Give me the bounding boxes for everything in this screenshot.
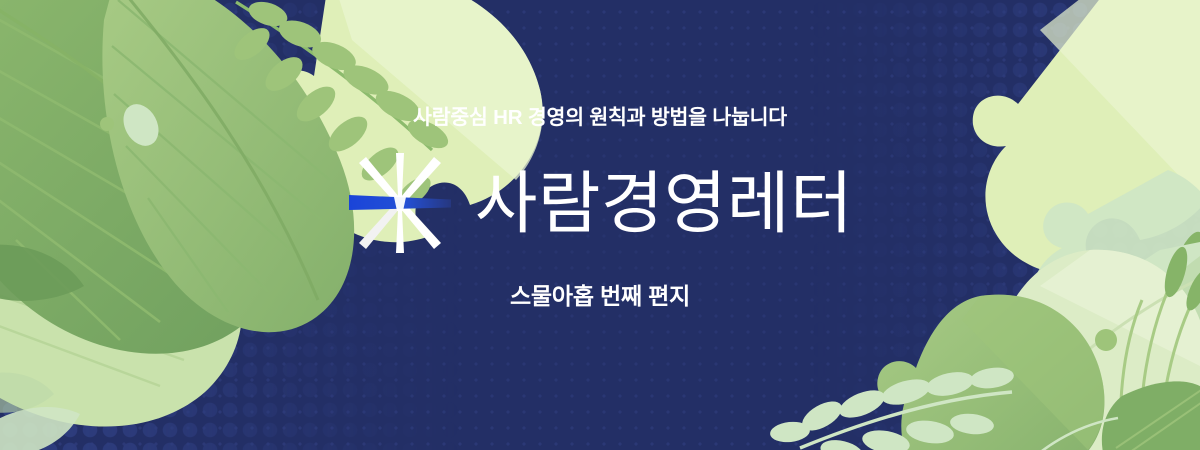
newsletter-banner: 사람중심 HR 경영의 원칙과 방법을 나눕니다 [0,0,1200,450]
banner-content: 사람중심 HR 경영의 원칙과 방법을 나눕니다 [0,0,1200,450]
asterisk-starburst-logo-icon [347,151,453,255]
banner-subtitle: 스물아홉 번째 편지 [510,285,690,308]
banner-title-row: 사람경영레터 [347,151,853,255]
banner-title: 사람경영레터 [475,170,853,238]
banner-tagline: 사람중심 HR 경영의 원칙과 방법을 나눕니다 [413,108,787,129]
